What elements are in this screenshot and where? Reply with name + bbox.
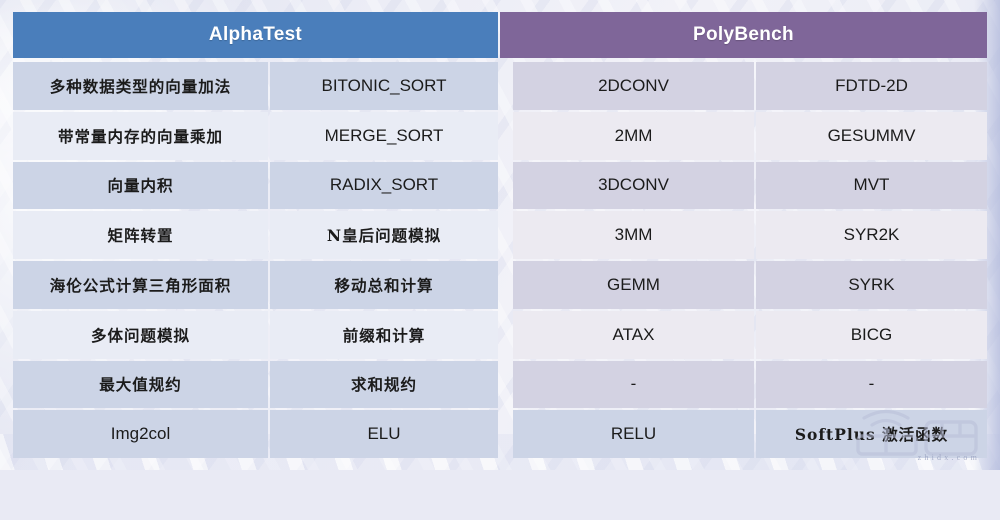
table-cell: 2MM bbox=[513, 112, 754, 160]
table-row: Img2colELURELUSoftPlus 激活函数 bbox=[13, 410, 987, 458]
table-header-polybench-label: PolyBench bbox=[693, 24, 794, 46]
table-cell: RELU bbox=[513, 410, 754, 458]
table-row: 向量内积RADIX_SORT3DCONVMVT bbox=[13, 162, 987, 210]
table-cell: 3DCONV bbox=[513, 162, 754, 210]
table-cell: 前缀和计算 bbox=[270, 311, 498, 359]
table-body: 多种数据类型的向量加法BITONIC_SORT2DCONVFDTD-2D带常量内… bbox=[13, 58, 987, 458]
table-cell: GESUMMV bbox=[756, 112, 987, 160]
table-cell: ATAX bbox=[513, 311, 754, 359]
table-cell: 移动总和计算 bbox=[270, 261, 498, 309]
table-cell: 2DCONV bbox=[513, 62, 754, 110]
table-cell: FDTD-2D bbox=[756, 62, 987, 110]
table-cell: ELU bbox=[270, 410, 498, 458]
table-cell: 带常量内存的向量乘加 bbox=[13, 112, 268, 160]
table-cell: GEMM bbox=[513, 261, 754, 309]
table-cell: - bbox=[513, 361, 754, 409]
table-cell: 求和规约 bbox=[270, 361, 498, 409]
table-cell: 最大值规约 bbox=[13, 361, 268, 409]
table-cell: RADIX_SORT bbox=[270, 162, 498, 210]
table-cell: SYRK bbox=[756, 261, 987, 309]
table-cell: MVT bbox=[756, 162, 987, 210]
table-header-alphatest-label: AlphaTest bbox=[209, 24, 302, 46]
table-cell: SYR2K bbox=[756, 211, 987, 259]
table-cell: 向量内积 bbox=[13, 162, 268, 210]
table-cell: BICG bbox=[756, 311, 987, 359]
benchmark-tables: AlphaTest PolyBench 多种数据类型的向量加法BITONIC_S… bbox=[13, 12, 987, 458]
table-row: 海伦公式计算三角形面积移动总和计算GEMMSYRK bbox=[13, 261, 987, 309]
table-cell: 多体问题模拟 bbox=[13, 311, 268, 359]
table-row: 多体问题模拟前缀和计算ATAXBICG bbox=[13, 311, 987, 359]
table-cell: N皇后问题模拟 bbox=[270, 211, 498, 259]
table-header-row: AlphaTest PolyBench bbox=[13, 12, 987, 58]
table-header-alphatest: AlphaTest bbox=[13, 12, 498, 58]
table-cell: Img2col bbox=[13, 410, 268, 458]
table-cell: BITONIC_SORT bbox=[270, 62, 498, 110]
table-header-polybench: PolyBench bbox=[500, 12, 987, 58]
table-row: 矩阵转置N皇后问题模拟3MMSYR2K bbox=[13, 211, 987, 259]
table-cell: MERGE_SORT bbox=[270, 112, 498, 160]
table-cell: 3MM bbox=[513, 211, 754, 259]
table-cell: - bbox=[756, 361, 987, 409]
table-cell: 多种数据类型的向量加法 bbox=[13, 62, 268, 110]
table-cell: 矩阵转置 bbox=[13, 211, 268, 259]
table-cell: 海伦公式计算三角形面积 bbox=[13, 261, 268, 309]
table-row: 带常量内存的向量乘加MERGE_SORT2MMGESUMMV bbox=[13, 112, 987, 160]
table-row: 最大值规约求和规约-- bbox=[13, 361, 987, 409]
table-row: 多种数据类型的向量加法BITONIC_SORT2DCONVFDTD-2D bbox=[13, 62, 987, 110]
table-cell: SoftPlus 激活函数 bbox=[756, 410, 987, 458]
